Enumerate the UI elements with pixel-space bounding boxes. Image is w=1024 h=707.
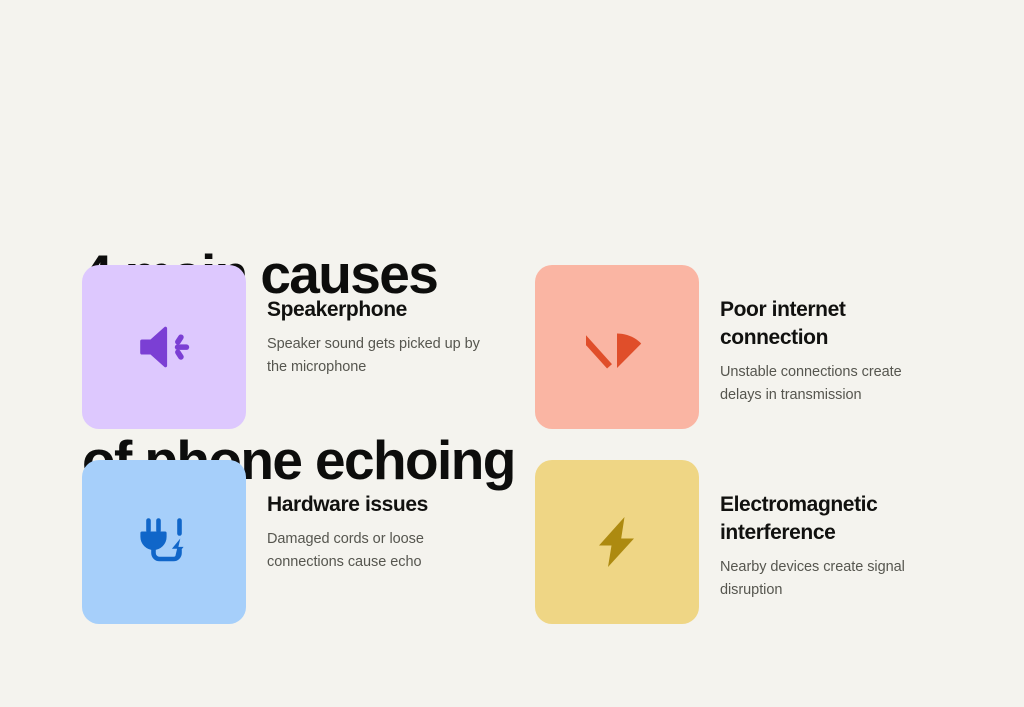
cause-description: Speaker sound gets picked up by the micr… — [267, 333, 499, 379]
cause-description: Nearby devices create signal disruption — [720, 556, 942, 602]
cause-title: Electromagnetic interference — [720, 491, 935, 547]
cause-text-poor-internet-connection: Poor internet connection Unstable connec… — [699, 265, 942, 407]
cause-icon-tile-speakerphone — [82, 265, 246, 429]
cause-description: Damaged cords or loose connections cause… — [267, 528, 499, 574]
cause-icon-tile-poor-internet-connection — [535, 265, 699, 429]
cause-text-hardware-issues: Hardware issues Damaged cords or loose c… — [246, 460, 499, 574]
cause-text-electromagnetic-interference: Electromagnetic interference Nearby devi… — [699, 460, 942, 602]
cause-title: Speakerphone — [267, 296, 499, 324]
cause-icon-tile-electromagnetic-interference — [535, 460, 699, 624]
cause-icon-tile-hardware-issues — [82, 460, 246, 624]
speaker-volume-icon — [133, 316, 195, 378]
cause-card-electromagnetic-interference: Electromagnetic interference Nearby devi… — [535, 460, 942, 624]
infographic-page: 4 main causes of phone echoing Speakerph… — [0, 0, 1024, 707]
cause-title: Poor internet connection — [720, 296, 935, 352]
wifi-off-icon — [586, 316, 648, 378]
lightning-bolt-icon — [586, 511, 648, 573]
cause-title: Hardware issues — [267, 491, 499, 519]
cause-card-speakerphone: Speakerphone Speaker sound gets picked u… — [82, 265, 535, 429]
cause-card-hardware-issues: Hardware issues Damaged cords or loose c… — [82, 460, 535, 624]
cause-description: Unstable connections create delays in tr… — [720, 361, 942, 407]
cause-card-poor-internet-connection: Poor internet connection Unstable connec… — [535, 265, 942, 429]
causes-grid: Speakerphone Speaker sound gets picked u… — [82, 265, 942, 624]
power-plug-icon — [133, 511, 195, 573]
cause-text-speakerphone: Speakerphone Speaker sound gets picked u… — [246, 265, 499, 379]
